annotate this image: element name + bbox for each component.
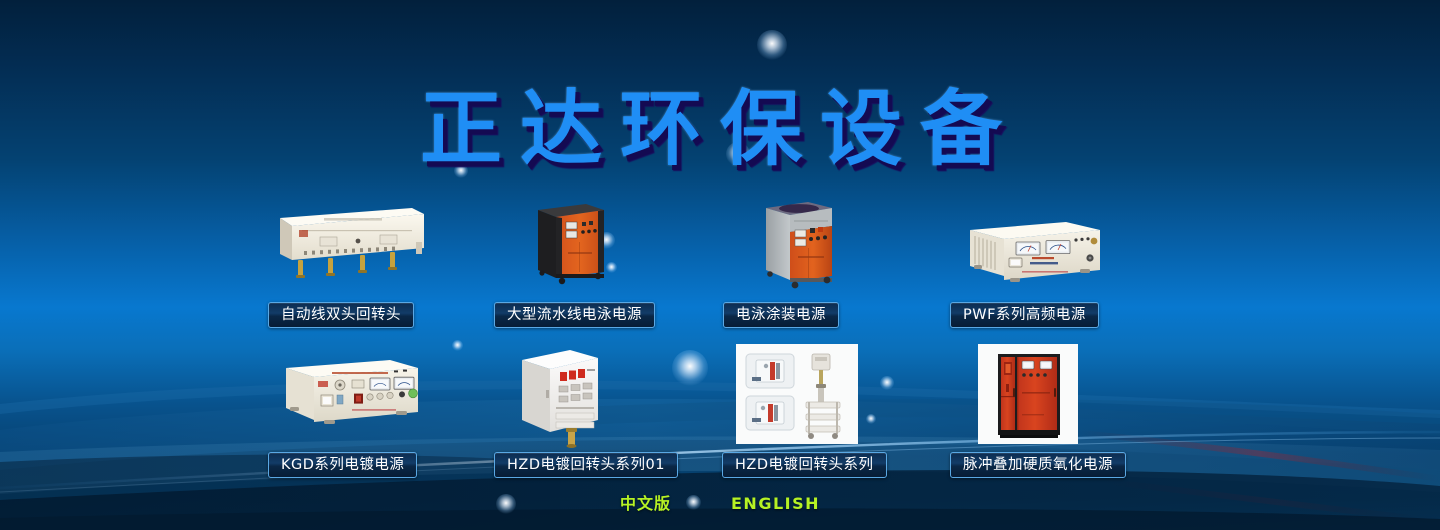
language-link-english[interactable]: ENGLISH (731, 494, 820, 513)
product-item-6[interactable]: HZD电镀回转头系列 (722, 344, 902, 478)
product-image-hzd-electroplating-rotary-head-series-01[interactable] (514, 344, 614, 448)
product-image-large-assembly-line-electrophoresis-power-cabinet[interactable] (524, 196, 616, 288)
product-label-3[interactable]: PWF系列高频电源 (950, 302, 1099, 328)
product-item-7[interactable]: 脉冲叠加硬质氧化电源 (944, 344, 1134, 478)
product-item-0[interactable]: 自动线双头回转头 (262, 196, 442, 326)
product-label-5[interactable]: HZD电镀回转头系列01 (494, 452, 678, 478)
product-label-7[interactable]: 脉冲叠加硬质氧化电源 (950, 452, 1126, 478)
product-label-6[interactable]: HZD电镀回转头系列 (722, 452, 887, 478)
splash-page: 正达环保设备 (0, 0, 1440, 530)
bokeh-dot (452, 340, 463, 351)
product-label-1[interactable]: 大型流水线电泳电源 (494, 302, 655, 328)
product-image-electrophoretic-coating-power-cabinet[interactable] (748, 196, 842, 290)
product-label-0[interactable]: 自动线双头回转头 (268, 302, 414, 328)
language-bar: 中文版ENGLISH (0, 490, 1440, 514)
product-label-4[interactable]: KGD系列电镀电源 (268, 452, 417, 478)
product-image-hzd-electroplating-rotary-head-series[interactable] (736, 344, 858, 444)
product-image-pulse-superimposed-hard-anodizing-power-cabinet[interactable] (978, 344, 1078, 444)
page-title: 正达环保设备 (0, 62, 1440, 181)
product-item-1[interactable]: 大型流水线电泳电源 (494, 196, 674, 326)
product-item-5[interactable]: HZD电镀回转头系列01 (494, 344, 674, 478)
product-image-kgd-series-electroplating-power-supply[interactable] (266, 350, 430, 436)
product-item-4[interactable]: KGD系列电镀电源 (262, 348, 442, 478)
product-image-pwf-series-high-frequency-power-supply[interactable] (954, 214, 1114, 288)
bokeh-dot (672, 350, 708, 386)
product-image-automatic-line-double-head-rotary-machine[interactable] (262, 196, 432, 282)
bokeh-dot (757, 30, 787, 60)
language-link-chinese[interactable]: 中文版 (620, 490, 671, 514)
product-label-2[interactable]: 电泳涂装电源 (723, 302, 839, 328)
product-item-2[interactable]: 电泳涂装电源 (722, 196, 902, 326)
product-item-3[interactable]: PWF系列高频电源 (944, 196, 1134, 326)
